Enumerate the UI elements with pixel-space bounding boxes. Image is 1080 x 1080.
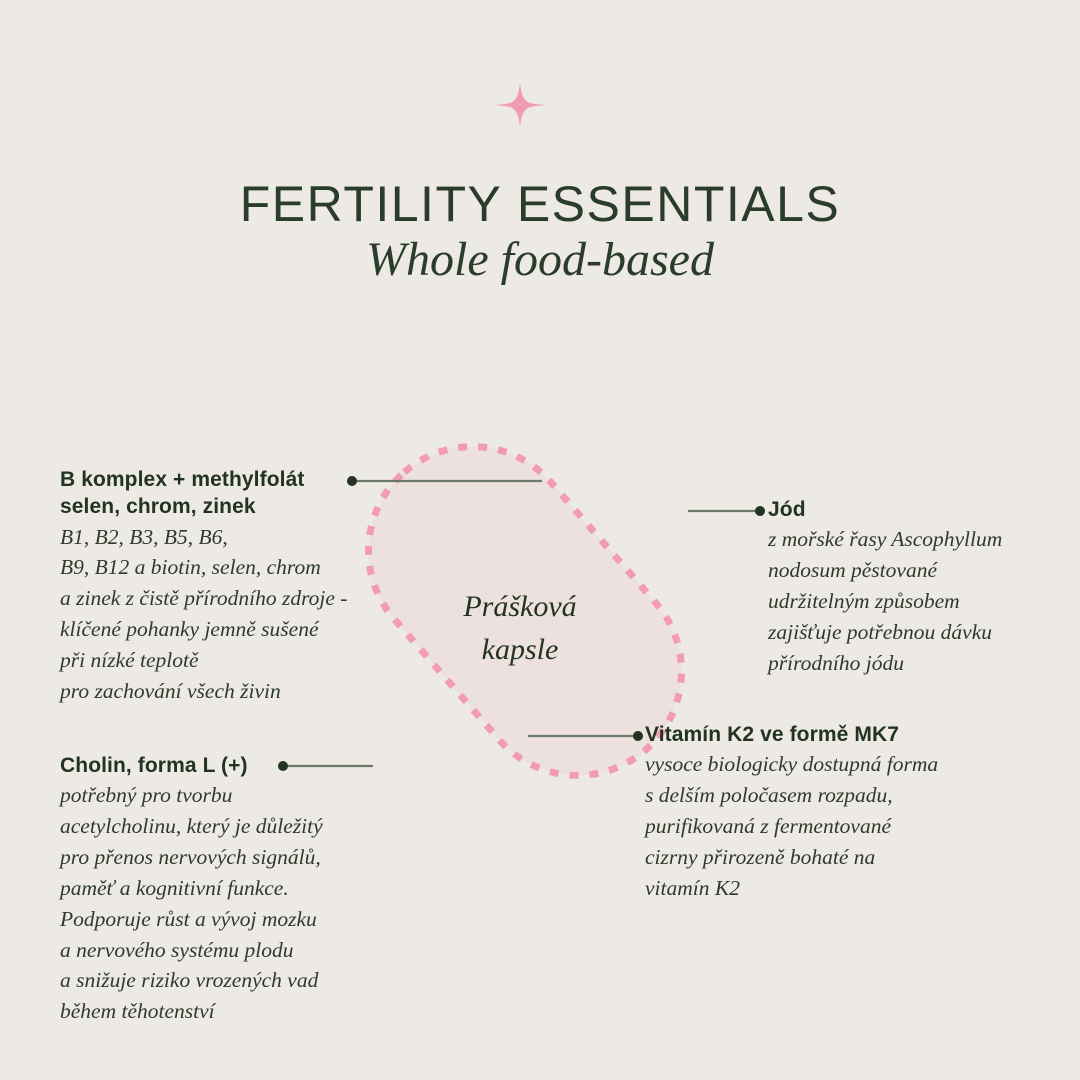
callout-b-komplex-body: B1, B2, B3, B5, B6, B9, B12 a biotin, se… <box>60 522 420 707</box>
callout-body-line: cizrny přirozeně bohaté na <box>645 842 1025 873</box>
callout-title-line: Vitamín K2 ve formě MK7 <box>645 721 1025 748</box>
capsule-label: Prášková kapsle <box>400 586 640 671</box>
callout-body-line: přírodního jódu <box>768 648 1068 679</box>
callout-body-line: udržitelným způsobem <box>768 586 1068 617</box>
callout-title-line: Jód <box>768 496 1068 523</box>
callout-jod-body: z mořské řasy Ascophyllum nodosum pěstov… <box>768 524 1068 678</box>
callout-body-line: klíčené pohanky jemně sušené <box>60 614 420 645</box>
capsule-label-line-1: Prášková <box>400 586 640 629</box>
callout-body-line: s delším poločasem rozpadu, <box>645 780 1025 811</box>
callout-body-line: a nervového systému plodu <box>60 935 400 966</box>
callout-cholin-body: potřebný pro tvorbu acetylcholinu, který… <box>60 780 400 1027</box>
callout-body-line: a zinek z čistě přírodního zdroje - <box>60 583 420 614</box>
callout-title-line: selen, chrom, zinek <box>60 493 420 520</box>
infographic-canvas: FERTILITY ESSENTIALS Whole food-based Pr… <box>0 0 1080 1080</box>
connector-vitamin-k2 <box>528 729 644 743</box>
callout-body-line: během těhotenství <box>60 996 400 1027</box>
callout-b-komplex-title: B komplex + methylfolát selen, chrom, zi… <box>60 466 420 521</box>
callout-body-line: pro zachování všech živin <box>60 676 420 707</box>
callout-body-line: paměť a kognitivní funkce. <box>60 873 400 904</box>
callout-body-line: při nízké teplotě <box>60 645 420 676</box>
callout-title-line: B komplex + methylfolát <box>60 466 420 493</box>
callout-body-line: B9, B12 a biotin, selen, chrom <box>60 552 420 583</box>
callout-jod-title: Jód <box>768 496 1068 523</box>
callout-title-line: Cholin, forma L (+) <box>60 752 400 779</box>
callout-vitamin-k2: Vitamín K2 ve formě MK7 vysoce biologick… <box>645 721 1025 904</box>
callout-body-line: vysoce biologicky dostupná forma <box>645 749 1025 780</box>
callout-body-line: a snižuje riziko vrozených vad <box>60 965 400 996</box>
capsule-label-line-2: kapsle <box>400 629 640 672</box>
callout-body-line: pro přenos nervových signálů, <box>60 842 400 873</box>
callout-body-line: Podporuje růst a vývoj mozku <box>60 904 400 935</box>
callout-body-line: potřebný pro tvorbu <box>60 780 400 811</box>
callout-body-line: nodosum pěstované <box>768 555 1068 586</box>
callout-body-line: acetylcholinu, který je důležitý <box>60 811 400 842</box>
callout-body-line: purifikovaná z fermentované <box>645 811 1025 842</box>
callout-body-line: B1, B2, B3, B5, B6, <box>60 522 420 553</box>
callout-vitamin-k2-title: Vitamín K2 ve formě MK7 <box>645 721 1025 748</box>
connector-jod <box>688 504 766 518</box>
page-subtitle: Whole food-based <box>0 232 1080 287</box>
callout-vitamin-k2-body: vysoce biologicky dostupná forma s delší… <box>645 749 1025 903</box>
callout-jod: Jód z mořské řasy Ascophyllum nodosum pě… <box>768 496 1068 679</box>
callout-cholin-title: Cholin, forma L (+) <box>60 752 400 779</box>
callout-b-komplex: B komplex + methylfolát selen, chrom, zi… <box>60 466 420 707</box>
callout-body-line: vitamín K2 <box>645 873 1025 904</box>
page-title: FERTILITY ESSENTIALS <box>0 178 1080 230</box>
callout-body-line: zajišťuje potřebnou dávku <box>768 617 1068 648</box>
callout-body-line: z mořské řasy Ascophyllum <box>768 524 1068 555</box>
callout-cholin: Cholin, forma L (+) potřebný pro tvorbu … <box>60 752 400 1027</box>
sparkle-plus-icon <box>494 83 546 127</box>
